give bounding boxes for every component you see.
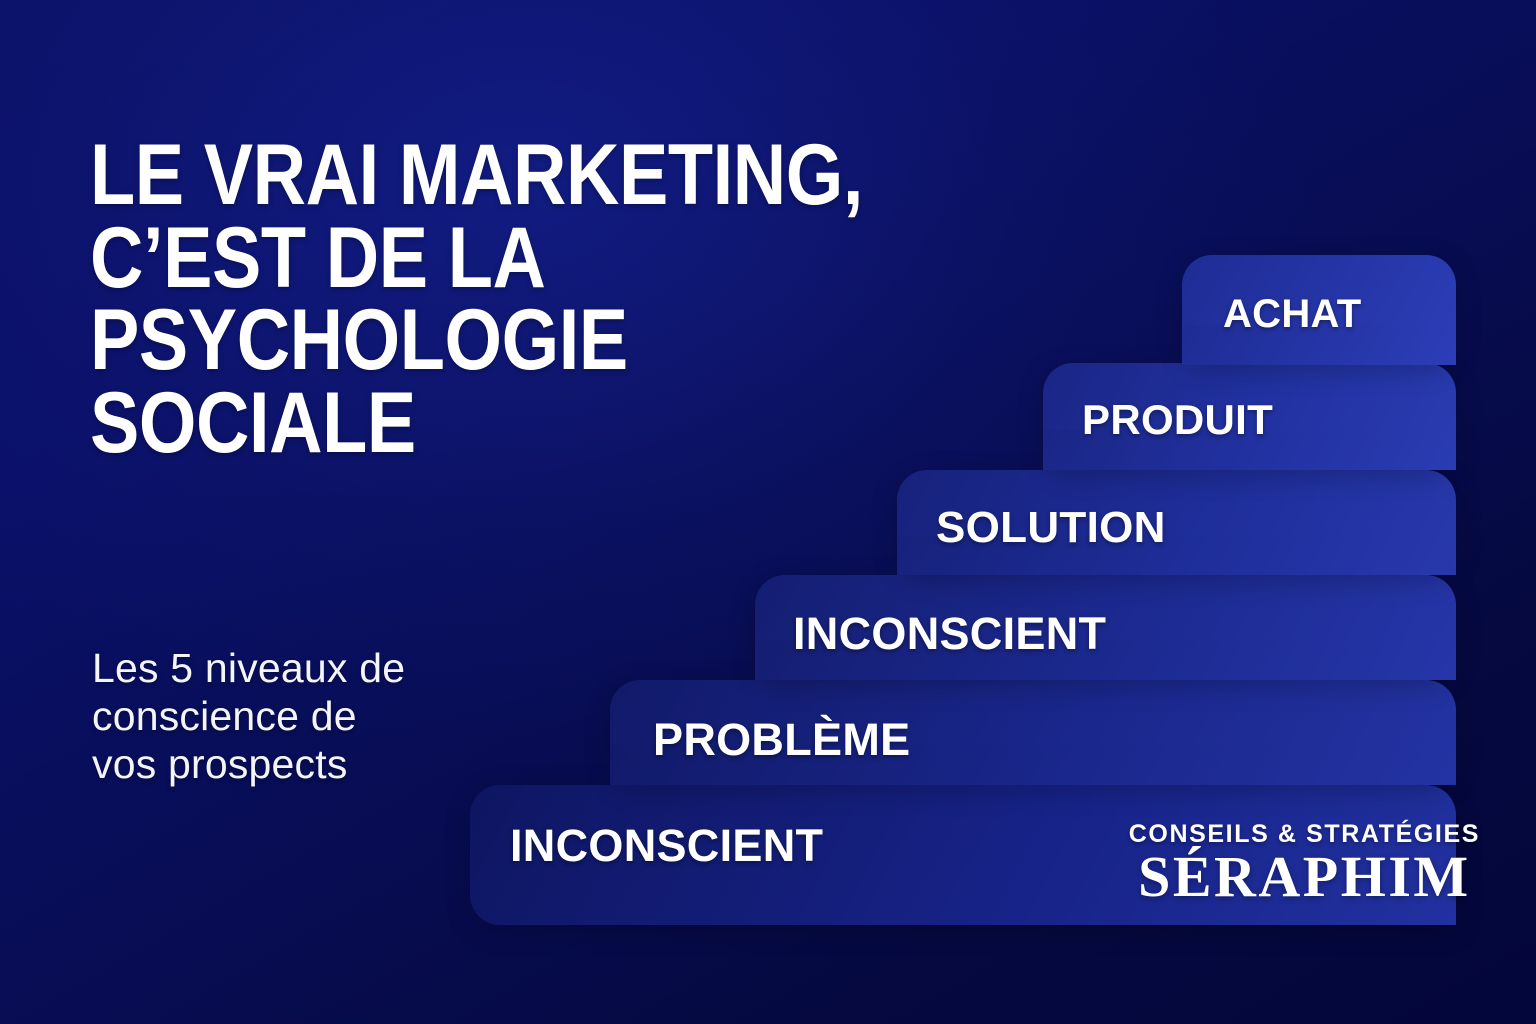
headline: LE VRAI MARKETING, C’EST DE LA PSYCHOLOG… [90, 134, 898, 464]
poster-canvas: INCONSCIENT PROBLÈME INCONSCIENT SOLUTIO… [0, 0, 1536, 1024]
step-label-inconscient-1: INCONSCIENT [510, 820, 823, 872]
subtitle-line-3: vos prospects [92, 741, 522, 789]
subtitle: Les 5 niveaux de conscience de vos prosp… [92, 645, 522, 789]
headline-line-1: LE VRAI MARKETING, [90, 134, 898, 217]
brand-name: SÉRAPHIM [1129, 847, 1480, 906]
headline-line-2: C’EST DE LA [90, 217, 898, 300]
headline-line-4: SOCIALE [90, 382, 898, 465]
step-label-produit: PRODUIT [1082, 396, 1273, 444]
step-label-probleme: PROBLÈME [653, 714, 910, 766]
headline-line-3: PSYCHOLOGIE [90, 299, 898, 382]
subtitle-line-1: Les 5 niveaux de [92, 645, 522, 693]
subtitle-line-2: conscience de [92, 693, 522, 741]
step-label-solution: SOLUTION [936, 503, 1166, 553]
brand-logo: CONSEILS & STRATÉGIES SÉRAPHIM [1129, 820, 1480, 906]
step-label-achat: ACHAT [1223, 292, 1362, 337]
step-label-inconscient-2: INCONSCIENT [793, 608, 1106, 660]
